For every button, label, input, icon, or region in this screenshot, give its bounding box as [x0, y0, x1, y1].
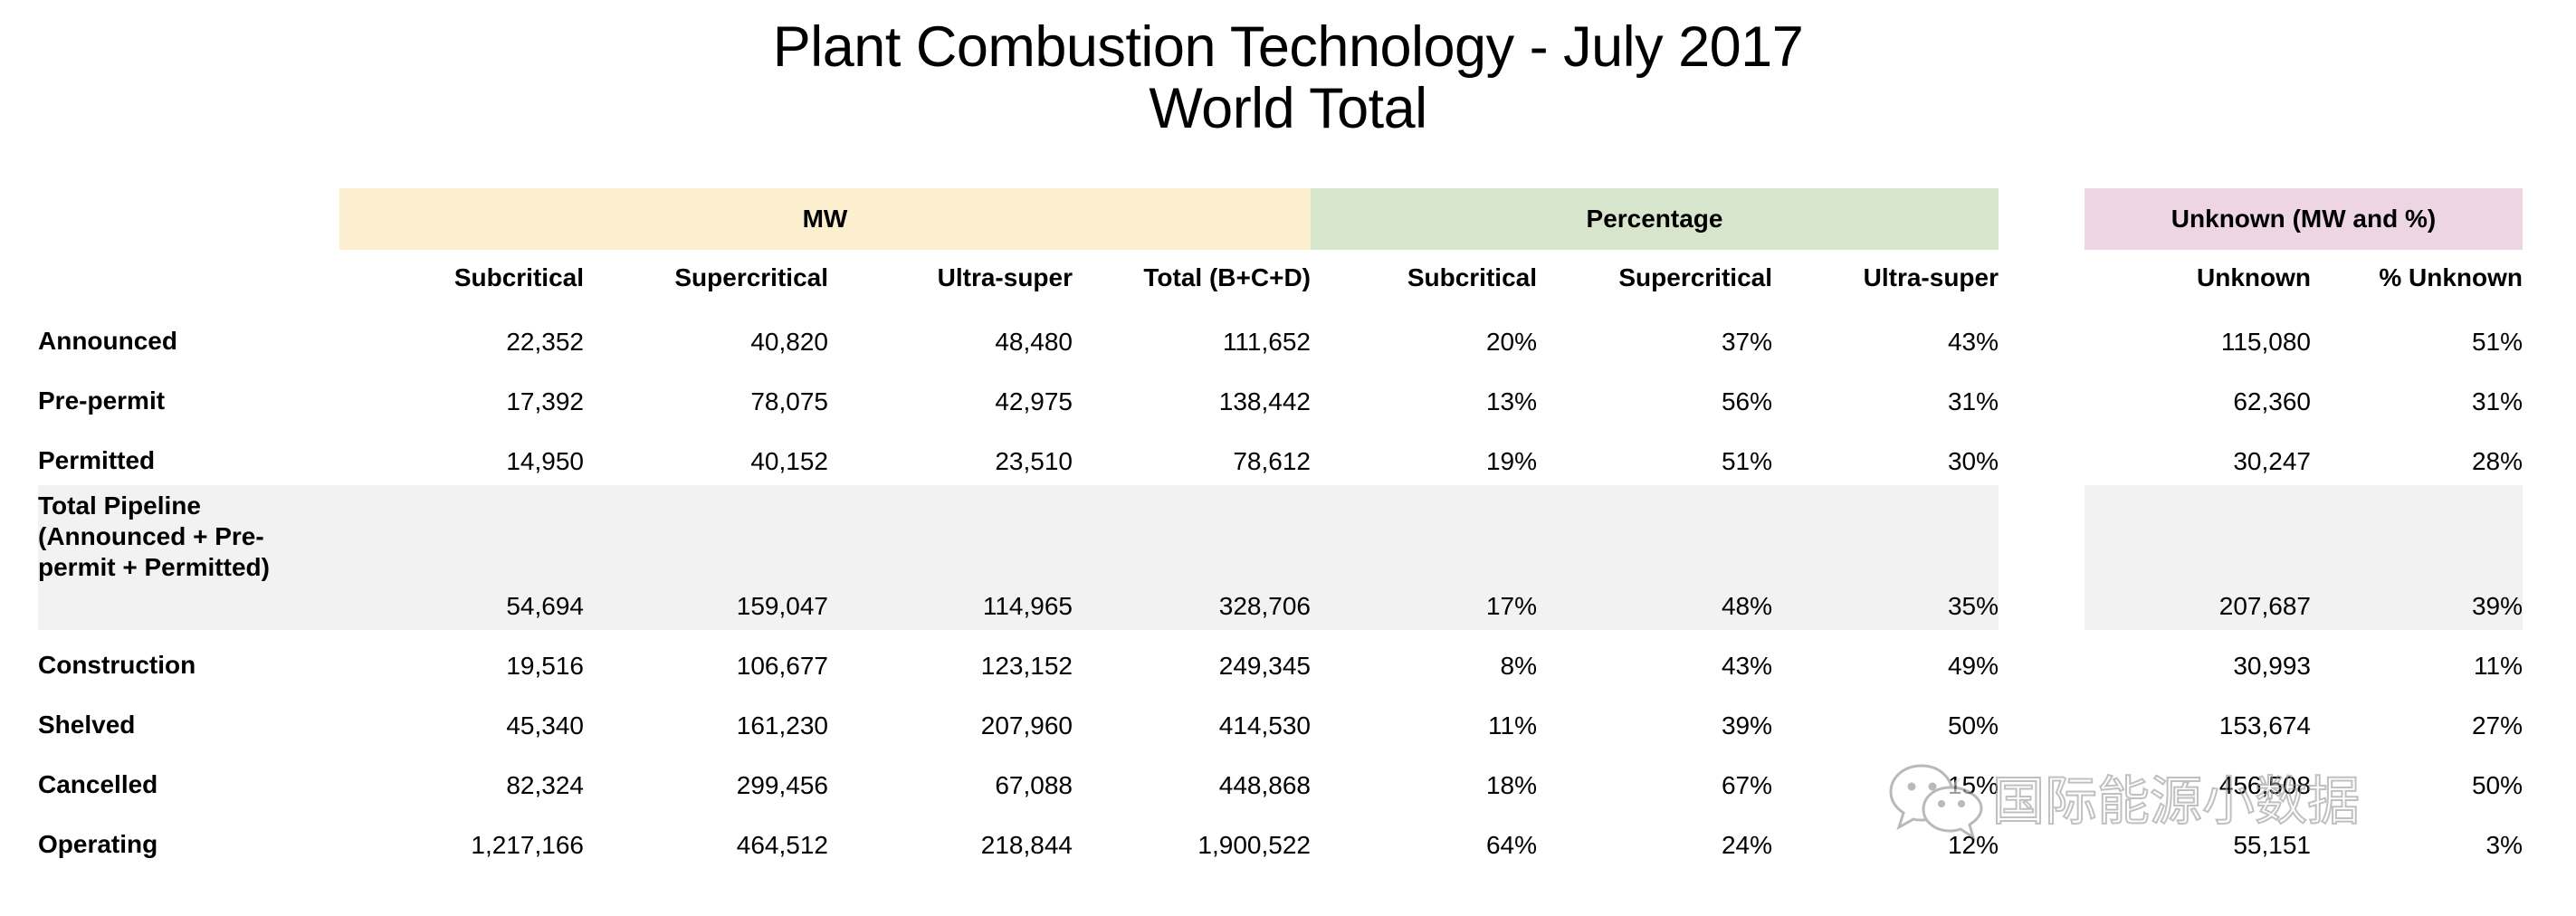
column-header-row: Subcritical Supercritical Ultra-super To…: [0, 250, 2576, 306]
cell-pct-subcritical: 19%: [1311, 447, 1537, 476]
cell-mw-total: 414,530: [1073, 711, 1311, 740]
table-row: Operating1,217,166464,512218,8441,900,52…: [0, 809, 2576, 869]
cell-mw-ultrasuper: 67,088: [828, 771, 1073, 800]
cell-pct-ultrasuper: 49%: [1772, 652, 1999, 681]
column-header-unknown-pct: % Unknown: [2311, 250, 2523, 306]
table-row: Cancelled82,324299,45667,088448,86818%67…: [0, 749, 2576, 809]
cell-pct-supercritical: 56%: [1537, 387, 1772, 416]
cell-mw-supercritical: 464,512: [584, 831, 828, 860]
cell-pct-ultrasuper: 31%: [1772, 387, 1999, 416]
cell-mw-supercritical: 40,820: [584, 328, 828, 357]
row-label: Construction: [38, 650, 328, 681]
column-header-pct-ultrasuper: Ultra-super: [1772, 250, 1999, 306]
cell-pct-ultrasuper: 12%: [1772, 831, 1999, 860]
cell-mw-subcritical: 1,217,166: [339, 831, 584, 860]
cell-mw-supercritical: 161,230: [584, 711, 828, 740]
group-header-row: MW Percentage Unknown (MW and %): [0, 188, 2576, 250]
cell-unknown-mw: 207,687: [2085, 592, 2311, 621]
table-row: Construction19,516106,677123,152249,3458…: [0, 630, 2576, 690]
cell-mw-subcritical: 17,392: [339, 387, 584, 416]
cell-pct-subcritical: 64%: [1311, 831, 1537, 860]
cell-unknown-pct: 3%: [2311, 831, 2523, 860]
column-header-pct-supercritical: Supercritical: [1537, 250, 1772, 306]
cell-pct-supercritical: 37%: [1537, 328, 1772, 357]
cell-pct-supercritical: 24%: [1537, 831, 1772, 860]
cell-mw-supercritical: 40,152: [584, 447, 828, 476]
cell-unknown-mw: 153,674: [2085, 711, 2311, 740]
cell-unknown-mw: 55,151: [2085, 831, 2311, 860]
cell-pct-ultrasuper: 35%: [1772, 592, 1999, 621]
cell-mw-ultrasuper: 42,975: [828, 387, 1073, 416]
cell-unknown-mw: 456,508: [2085, 771, 2311, 800]
cell-pct-subcritical: 8%: [1311, 652, 1537, 681]
cell-pct-supercritical: 43%: [1537, 652, 1772, 681]
cell-pct-subcritical: 13%: [1311, 387, 1537, 416]
cell-mw-subcritical: 82,324: [339, 771, 584, 800]
title-line-2: World Total: [0, 78, 2576, 139]
column-header-mw-ultrasuper: Ultra-super: [828, 250, 1073, 306]
row-label: Announced: [38, 326, 328, 357]
row-label: Shelved: [38, 710, 328, 740]
cell-mw-total: 111,652: [1073, 328, 1311, 357]
cell-mw-ultrasuper: 123,152: [828, 652, 1073, 681]
cell-pct-supercritical: 51%: [1537, 447, 1772, 476]
row-label: Pre-permit: [38, 386, 328, 416]
table-row: Pre-permit17,39278,07542,975138,44213%56…: [0, 366, 2576, 425]
cell-mw-ultrasuper: 114,965: [828, 592, 1073, 621]
cell-unknown-pct: 11%: [2311, 652, 2523, 681]
cell-unknown-mw: 30,993: [2085, 652, 2311, 681]
table-row: Total Pipeline (Announced + Pre-permit +…: [0, 485, 2576, 630]
column-header-mw-total: Total (B+C+D): [1073, 250, 1311, 306]
cell-pct-ultrasuper: 50%: [1772, 711, 1999, 740]
cell-unknown-mw: 62,360: [2085, 387, 2311, 416]
title-line-1: Plant Combustion Technology - July 2017: [0, 16, 2576, 78]
group-header-unknown: Unknown (MW and %): [2085, 188, 2523, 250]
cell-mw-subcritical: 54,694: [339, 592, 584, 621]
cell-mw-total: 78,612: [1073, 447, 1311, 476]
group-header-mw: MW: [339, 188, 1311, 250]
table-row: Permitted14,95040,15223,51078,61219%51%3…: [0, 425, 2576, 485]
cell-unknown-pct: 39%: [2311, 592, 2523, 621]
cell-mw-subcritical: 19,516: [339, 652, 584, 681]
cell-pct-supercritical: 67%: [1537, 771, 1772, 800]
cell-mw-ultrasuper: 23,510: [828, 447, 1073, 476]
column-header-mw-subcritical: Subcritical: [339, 250, 584, 306]
column-header-unknown-mw: Unknown: [2085, 250, 2311, 306]
cell-pct-ultrasuper: 43%: [1772, 328, 1999, 357]
cell-mw-subcritical: 22,352: [339, 328, 584, 357]
cell-mw-total: 249,345: [1073, 652, 1311, 681]
cell-mw-supercritical: 78,075: [584, 387, 828, 416]
cell-pct-subcritical: 17%: [1311, 592, 1537, 621]
cell-pct-ultrasuper: 30%: [1772, 447, 1999, 476]
data-table: MW Percentage Unknown (MW and %) Subcrit…: [0, 188, 2576, 869]
table-row: Announced22,35240,82048,480111,65220%37%…: [0, 306, 2576, 366]
cell-mw-ultrasuper: 207,960: [828, 711, 1073, 740]
cell-mw-total: 138,442: [1073, 387, 1311, 416]
table-row: Shelved45,340161,230207,960414,53011%39%…: [0, 690, 2576, 749]
cell-pct-supercritical: 39%: [1537, 711, 1772, 740]
cell-unknown-pct: 51%: [2311, 328, 2523, 357]
cell-mw-total: 448,868: [1073, 771, 1311, 800]
cell-mw-supercritical: 299,456: [584, 771, 828, 800]
cell-mw-ultrasuper: 218,844: [828, 831, 1073, 860]
row-label: Cancelled: [38, 769, 328, 800]
cell-unknown-pct: 28%: [2311, 447, 2523, 476]
row-label: Total Pipeline (Announced + Pre-permit +…: [38, 491, 328, 583]
row-label: Operating: [38, 829, 328, 860]
cell-pct-supercritical: 48%: [1537, 592, 1772, 621]
cell-mw-ultrasuper: 48,480: [828, 328, 1073, 357]
table-body: Announced22,35240,82048,480111,65220%37%…: [0, 306, 2576, 869]
cell-pct-subcritical: 20%: [1311, 328, 1537, 357]
page-title: Plant Combustion Technology - July 2017 …: [0, 16, 2576, 139]
cell-mw-supercritical: 159,047: [584, 592, 828, 621]
cell-unknown-pct: 27%: [2311, 711, 2523, 740]
cell-pct-ultrasuper: 15%: [1772, 771, 1999, 800]
row-label: Permitted: [38, 445, 328, 476]
cell-mw-total: 1,900,522: [1073, 831, 1311, 860]
cell-unknown-mw: 30,247: [2085, 447, 2311, 476]
cell-mw-supercritical: 106,677: [584, 652, 828, 681]
column-header-mw-supercritical: Supercritical: [584, 250, 828, 306]
cell-mw-total: 328,706: [1073, 592, 1311, 621]
cell-unknown-pct: 50%: [2311, 771, 2523, 800]
cell-mw-subcritical: 14,950: [339, 447, 584, 476]
cell-mw-subcritical: 45,340: [339, 711, 584, 740]
cell-unknown-pct: 31%: [2311, 387, 2523, 416]
group-header-percentage: Percentage: [1311, 188, 1999, 250]
cell-pct-subcritical: 18%: [1311, 771, 1537, 800]
cell-unknown-mw: 115,080: [2085, 328, 2311, 357]
column-header-pct-subcritical: Subcritical: [1311, 250, 1537, 306]
cell-pct-subcritical: 11%: [1311, 711, 1537, 740]
